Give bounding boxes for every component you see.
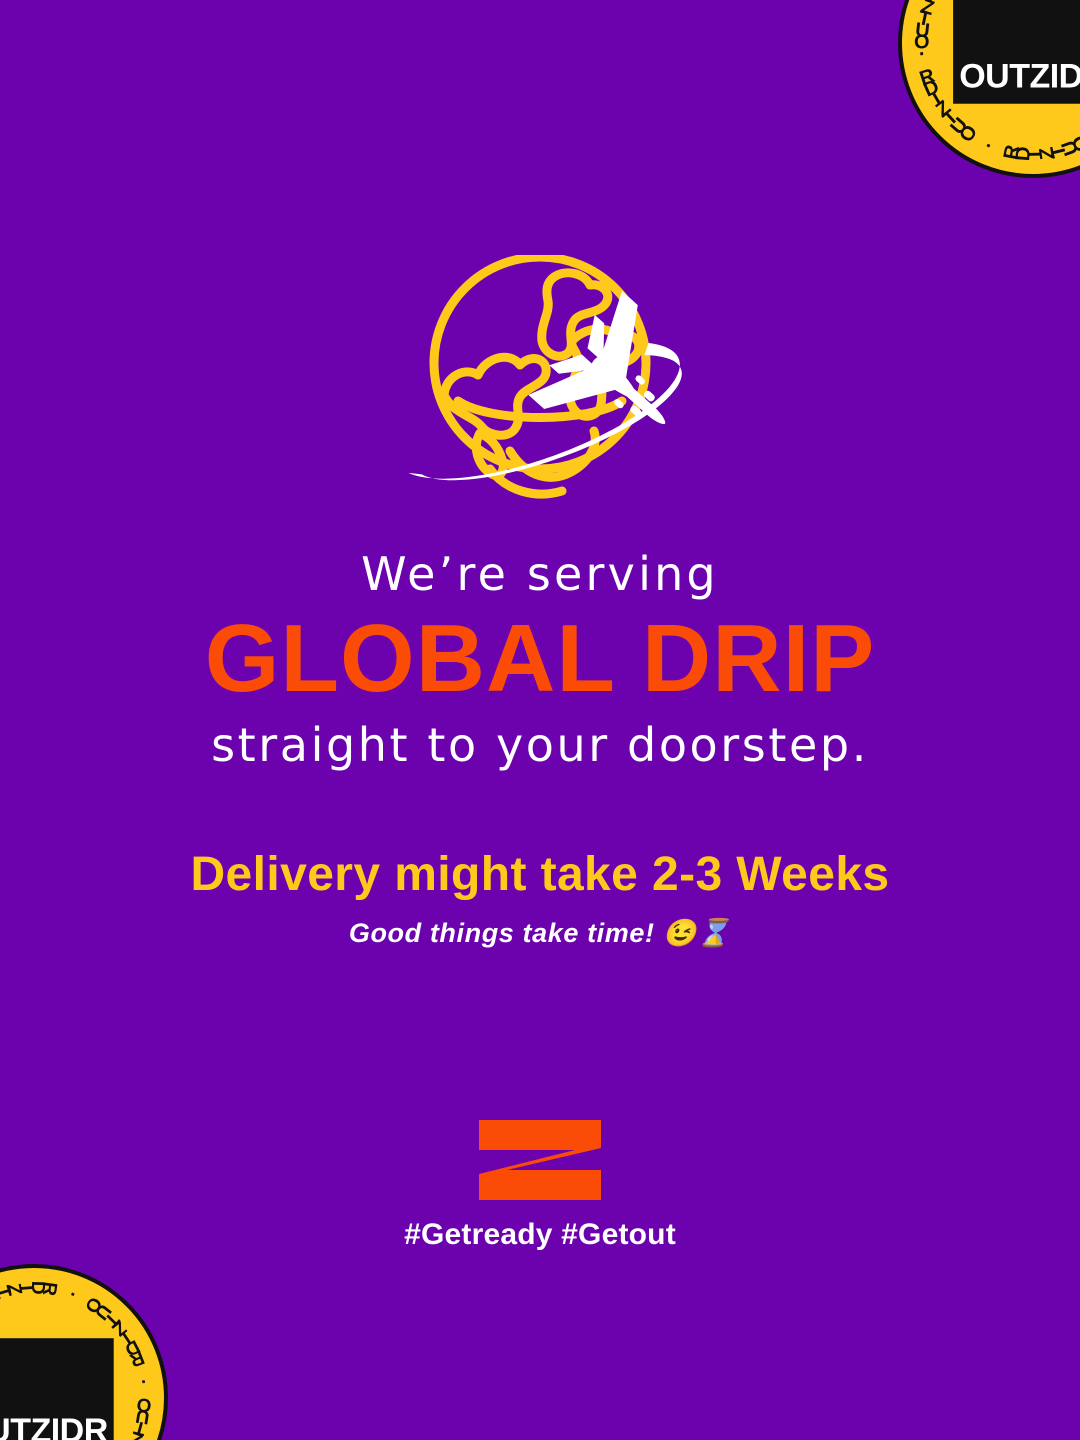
eyebrow-text: We’re serving	[0, 548, 1080, 601]
page-title: GLOBAL DRIP	[0, 605, 1080, 713]
badge-center-mark-top-right: OUTZIDR	[953, 0, 1080, 103]
badge-center-mark-bottom-left: OUTZIDR	[0, 1338, 113, 1440]
outzidr-badge-top-right: OUTZIDR · OUTZIDR · OUTZIDR · OUTZIDR · …	[898, 0, 1080, 178]
promo-poster: We’re serving GLOBAL DRIP straight to yo…	[0, 0, 1080, 1440]
outzidr-badge-bottom-left: OUTZIDR · OUTZIDR · OUTZIDR · OUTZIDR · …	[0, 1264, 168, 1440]
delivery-subnote: Good things take time! 😉⌛	[0, 917, 1080, 949]
badge-wordmark: OUTZIDR	[0, 1414, 108, 1440]
hashtags-text: #Getready #Getout	[0, 1218, 1080, 1252]
badge-wordmark: OUTZIDR	[959, 60, 1080, 94]
copy-block: We’re serving GLOBAL DRIP straight to yo…	[0, 548, 1080, 950]
delivery-notice: Delivery might take 2-3 Weeks	[0, 846, 1080, 904]
subhead-text: straight to your doorstep.	[0, 718, 1080, 773]
footer-block: #Getready #Getout	[0, 1118, 1080, 1252]
globe-with-airplane-icon	[340, 255, 740, 535]
outzidr-z-logo	[477, 1118, 603, 1202]
